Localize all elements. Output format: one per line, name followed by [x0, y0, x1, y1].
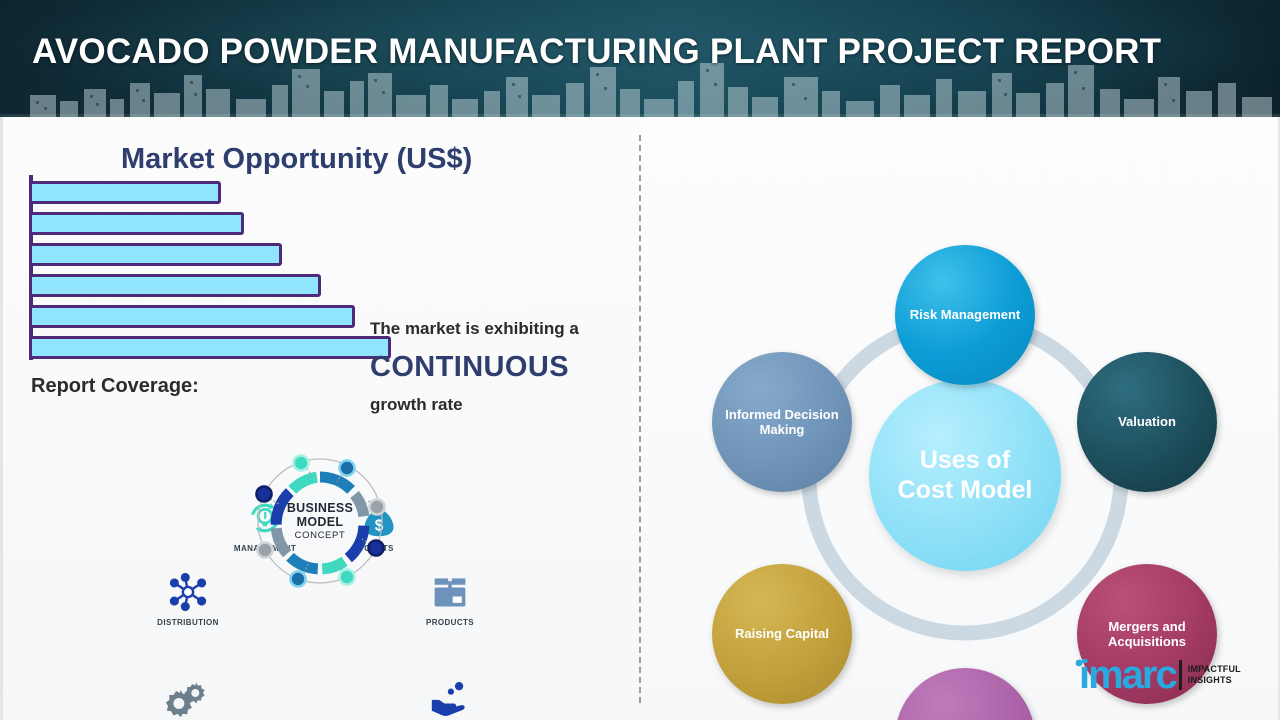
bar-6	[29, 336, 391, 359]
wheel-node-raising-capital[interactable]: Raising Capital	[712, 564, 852, 704]
coverage-item-products: PRODUCTS	[390, 569, 510, 627]
coverage-item-label: PRODUCTS	[390, 618, 510, 627]
bar-5	[29, 305, 355, 328]
report-coverage-label: Report Coverage:	[31, 375, 199, 398]
wheel-node-label: Risk Management	[904, 307, 1027, 322]
wheel-node-label: Mergers and Acquisitions	[1077, 619, 1217, 650]
wheel-node-label: Raising Capital	[729, 626, 835, 641]
left-panel: Market Opportunity (US$) The market is e…	[0, 117, 640, 720]
page-title: AVOCADO POWDER MANUFACTURING PLANT PROJE…	[32, 32, 1252, 72]
bar-2	[29, 212, 244, 235]
wheel-node-label: Valuation	[1112, 414, 1182, 429]
logo-wordmark: imarc	[1079, 655, 1176, 695]
wheel-center-node: Uses of Cost Model	[869, 379, 1061, 571]
slide: AVOCADO POWDER MANUFACTURING PLANT PROJE…	[0, 0, 1280, 720]
cost-model-wheel: Uses of Cost Model Risk Management Valua…	[640, 117, 1280, 720]
business-model-line-2: MODEL	[297, 515, 344, 529]
coverage-item-revenue: REVENUE	[390, 675, 510, 720]
hand-coins-icon	[390, 675, 510, 720]
bar-1	[29, 181, 221, 204]
gears-icon	[128, 675, 248, 720]
chart-title: Market Opportunity (US$)	[121, 143, 472, 176]
coverage-item-label: DISTRIBUTION	[128, 618, 248, 627]
network-nodes-icon	[128, 569, 248, 615]
wheel-node-informed-decision-making[interactable]: Informed Decision Making	[712, 352, 852, 492]
business-model-line-1: BUSINESS	[287, 501, 353, 515]
statement-highlight: CONTINUOUS	[370, 351, 569, 384]
right-panel: Uses of Cost Model Risk Management Valua…	[640, 117, 1280, 720]
statement-line-3: growth rate	[370, 395, 463, 415]
wheel-node-valuation[interactable]: Valuation	[1077, 352, 1217, 492]
coverage-item-services: SERVICES	[128, 675, 248, 720]
wheel-center-line-2: Cost Model	[898, 475, 1033, 505]
wheel-center-line-1: Uses of	[898, 445, 1033, 475]
logo-tagline-line-1: IMPACTFUL	[1188, 664, 1241, 675]
wheel-node-label: Informed Decision Making	[712, 407, 852, 438]
bar-4	[29, 274, 321, 297]
bar-3	[29, 243, 282, 266]
wheel-node-risk-management[interactable]: Risk Management	[895, 245, 1035, 385]
imarc-logo: imarc IMPACTFUL INSIGHTS	[1073, 655, 1241, 695]
slide-header: AVOCADO POWDER MANUFACTURING PLANT PROJE…	[0, 0, 1280, 117]
business-model-line-3: CONCEPT	[295, 531, 346, 542]
coverage-item-distribution: DISTRIBUTION	[128, 569, 248, 627]
slide-body: Market Opportunity (US$) The market is e…	[0, 117, 1280, 720]
business-model-diagram: BUSINESS MODEL CONCEPT	[246, 447, 394, 595]
statement-line-1: The market is exhibiting a	[370, 319, 579, 339]
panel-divider	[639, 135, 641, 703]
box-package-icon	[390, 569, 510, 615]
logo-divider	[1179, 660, 1182, 690]
logo-tagline: IMPACTFUL INSIGHTS	[1188, 664, 1241, 687]
business-model-center-label: BUSINESS MODEL CONCEPT	[246, 447, 394, 595]
logo-tagline-line-2: INSIGHTS	[1188, 675, 1241, 686]
